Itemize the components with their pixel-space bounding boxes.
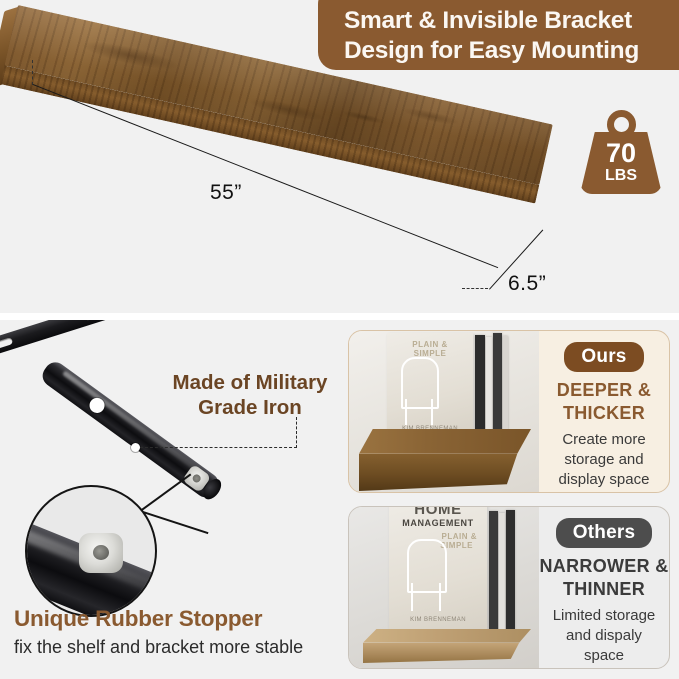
ours-caption-line-1: DEEPER & — [557, 379, 651, 402]
ours-description: Create more storage and display space — [544, 430, 664, 490]
chair-leg — [431, 399, 433, 425]
military-callout-line-vertical — [296, 417, 297, 448]
military-callout-dot — [131, 443, 140, 452]
others-badge: Others — [556, 518, 652, 548]
rubber-stopper-magnifier — [25, 485, 157, 617]
length-label: 55” — [210, 181, 242, 205]
weight-value: 70 — [580, 140, 662, 167]
chair-leg — [411, 583, 413, 611]
depth-label: 6.5” — [508, 272, 546, 296]
section-divider — [0, 313, 679, 320]
others-shelf-front — [363, 643, 531, 663]
length-extension-tick — [32, 60, 33, 85]
book-cover: PLAIN & SIMPLE KIM BRENNEMAN — [387, 333, 473, 440]
weight-unit: LBS — [580, 168, 662, 184]
comparison-card-others: HOME MANAGEMENT PLAIN & SIMPLE KIM BRENN… — [348, 506, 670, 669]
book-author: KIM BRENNEMAN — [389, 617, 487, 623]
ours-shelf-top — [359, 429, 531, 454]
mounting-plate — [0, 320, 156, 364]
book-spine — [486, 337, 492, 435]
chair-illustration — [407, 539, 447, 593]
ours-shelf — [359, 429, 531, 491]
header-banner: Smart & Invisible Bracket Design for Eas… — [318, 0, 679, 70]
others-shelf-top — [363, 629, 531, 643]
stopper-subtitle: fix the shelf and bracket more stable — [14, 635, 354, 659]
bracket-illustration — [0, 320, 340, 610]
book-title-top: HOME — [389, 507, 487, 518]
chair-leg — [439, 583, 441, 611]
header-line-2: Design for Easy Mounting — [344, 36, 674, 66]
header-line-1: Smart & Invisible Bracket — [344, 6, 674, 36]
weight-capacity-badge: 70 LBS — [580, 110, 662, 194]
military-heading-line-1: Made of Military — [155, 370, 345, 395]
depth-extension-tick — [462, 288, 488, 289]
others-caption-line-1: NARROWER & — [540, 555, 669, 578]
others-caption: NARROWER & THINNER — [540, 555, 669, 601]
ours-caption-line-2: THICKER — [557, 402, 651, 425]
book-spine — [475, 335, 485, 435]
book-title-sub: MANAGEMENT — [389, 518, 487, 528]
ours-badge: Ours — [564, 342, 643, 372]
hero-section: 55” 6.5” Smart & Invisible Bracket Desig… — [0, 0, 679, 313]
ours-text-panel: Ours DEEPER & THICKER Create more storag… — [539, 331, 669, 492]
product-infographic: 55” 6.5” Smart & Invisible Bracket Desig… — [0, 0, 679, 679]
rubber-stopper-caption: Unique Rubber Stopper fix the shelf and … — [14, 605, 354, 659]
book-spine — [506, 510, 515, 633]
others-text-panel: Others NARROWER & THINNER Limited storag… — [539, 507, 669, 668]
ours-caption: DEEPER & THICKER — [557, 379, 651, 425]
stopper-title: Unique Rubber Stopper — [14, 605, 354, 633]
military-callout-line-horizontal — [140, 447, 297, 448]
magnifier-leader-line — [140, 474, 191, 512]
book-spine — [489, 511, 498, 633]
book-spine — [503, 336, 508, 435]
military-grade-heading: Made of Military Grade Iron — [155, 370, 345, 420]
mounting-slot — [84, 320, 115, 321]
military-heading-line-2: Grade Iron — [155, 395, 345, 420]
features-section: Made of Military Grade Iron Unique Rubbe… — [0, 320, 679, 679]
ours-shelf-front — [359, 454, 531, 491]
magnified-rubber-stopper — [79, 533, 123, 573]
others-product-photo: HOME MANAGEMENT PLAIN & SIMPLE KIM BRENN… — [349, 507, 539, 668]
comparison-card-ours: PLAIN & SIMPLE KIM BRENNEMAN Ours — [348, 330, 670, 493]
others-caption-line-2: THINNER — [540, 578, 669, 601]
book-spine — [499, 513, 505, 633]
others-shelf — [363, 629, 531, 663]
book-cover: HOME MANAGEMENT PLAIN & SIMPLE KIM BRENN… — [389, 507, 487, 637]
mounting-slot — [0, 337, 13, 353]
book-spine — [493, 333, 502, 435]
others-description: Limited storage and dispaly space — [545, 606, 663, 666]
chair-leg — [405, 399, 407, 425]
ours-product-photo: PLAIN & SIMPLE KIM BRENNEMAN — [349, 331, 539, 492]
